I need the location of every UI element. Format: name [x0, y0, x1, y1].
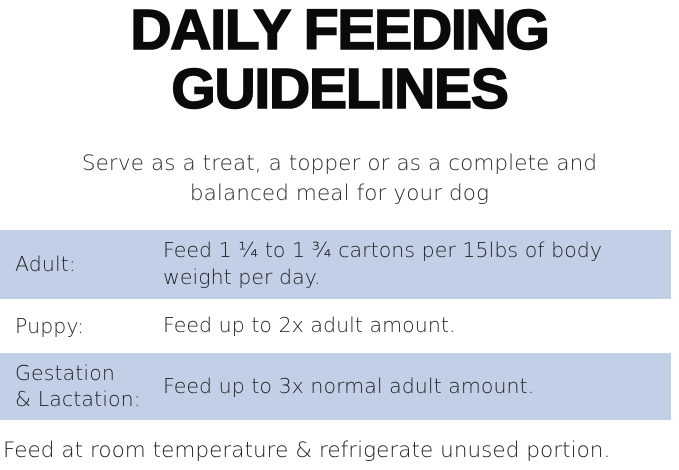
row-description-puppy: Feed up to 2x adult amount. — [163, 312, 663, 340]
page-title-line-1: DAILY FEEDING — [0, 2, 679, 58]
footer-note: Feed at room temperature & refrigerate u… — [0, 437, 679, 465]
table-row: Adult: Feed 1 ¼ to 1 ¾ cartons per 15lbs… — [0, 230, 671, 299]
page-title-line-2: GUIDELINES — [0, 61, 679, 117]
row-label-gestation-lactation: Gestation & Lactation: — [15, 360, 163, 413]
page-subtitle: Serve as a treat, a topper or as a compl… — [0, 149, 679, 210]
row-label-line-1: Gestation — [15, 360, 163, 387]
feeding-guidelines-sheet: DAILY FEEDING GUIDELINES Serve as a trea… — [0, 0, 679, 470]
row-description-gestation-lactation: Feed up to 3x normal adult amount. — [163, 373, 663, 401]
table-row: Puppy: Feed up to 2x adult amount. — [0, 299, 671, 353]
row-description-adult: Feed 1 ¼ to 1 ¾ cartons per 15lbs of bod… — [163, 237, 663, 292]
row-label-line-2: & Lactation: — [15, 386, 163, 413]
row-label-adult: Adult: — [15, 251, 163, 278]
feeding-table: Adult: Feed 1 ¼ to 1 ¾ cartons per 15lbs… — [0, 230, 679, 420]
row-label-puppy: Puppy: — [15, 313, 163, 340]
row-label-line-1: Puppy: — [15, 313, 163, 340]
row-label-line-1: Adult: — [15, 251, 163, 278]
page-title: DAILY FEEDING GUIDELINES — [0, 0, 679, 118]
table-row: Gestation & Lactation: Feed up to 3x nor… — [0, 353, 671, 420]
